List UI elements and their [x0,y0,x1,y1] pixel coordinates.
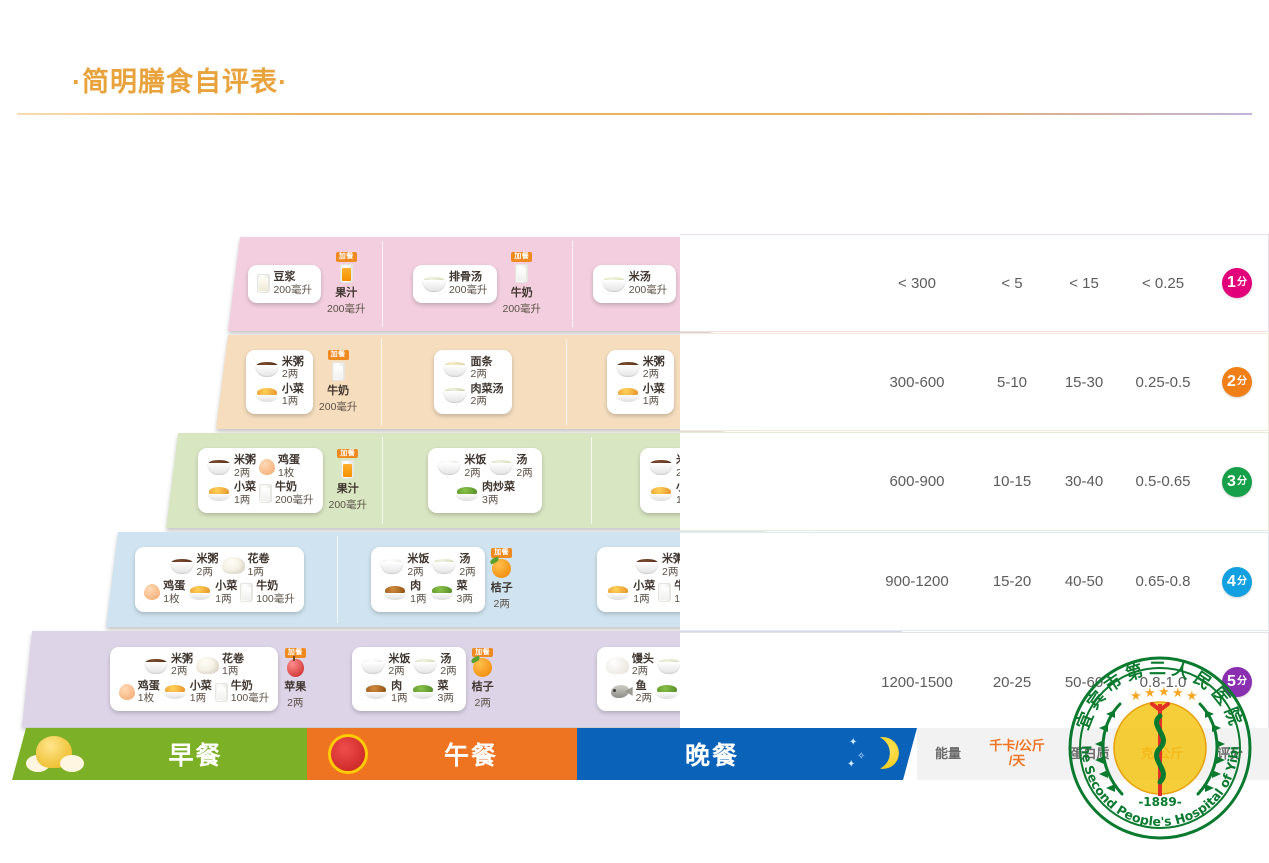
level-2-lunch: 面条2两 肉菜汤2两 [381,335,565,429]
food-name: 花卷 [222,653,244,666]
cell-kcal-per-kg: 20-25 [976,674,1048,691]
juice-glass-icon [340,263,353,283]
cell-score: 3分 [1206,467,1268,497]
food-name: 汤 [440,653,456,666]
food-qty: 2两 [470,368,492,380]
congee-bowl-icon [616,360,640,377]
veg-plate-icon [655,684,679,699]
tab-dinner[interactable]: 晚餐 ✦ ✧ ✦ [577,728,917,780]
level-4-lunch: 米饭2两 汤2两 肉1两 [317,532,567,627]
status-badge[interactable]: 3分 [1222,467,1252,497]
food-item: 米粥2两 [255,356,304,381]
soup-bowl-icon [413,657,437,674]
food-item: 小菜1两 [207,481,256,506]
snack-badge: 加餐 [285,648,306,658]
food-item: 牛奶100毫升 [240,580,295,605]
food-name: 小菜 [643,383,665,396]
table-row: < 300 < 5 < 15 < 0.25 1分 [680,234,1269,332]
food-item: 小菜1两 [255,383,304,408]
food-item: 米饭2两 [361,653,410,678]
milk-glass-icon [215,682,228,702]
rice-bowl-icon [361,657,385,674]
food-qty: 1两 [633,593,655,605]
level-1-breakfast: 豆浆200毫升 加餐 果汁 200毫升 [232,237,382,331]
soy-milk-glass-icon [257,273,270,293]
snack-item[interactable]: 加餐 苹果 2两 [284,648,306,710]
xiaocai-plate-icon [163,684,187,699]
bread-icon [26,736,84,772]
tab-breakfast[interactable]: 早餐 [12,728,307,780]
food-item: 馒头2两 [606,653,654,678]
food-name: 牛奶 [275,481,314,494]
food-name: 果汁 [335,284,357,300]
food-name: 小菜 [234,481,256,494]
meal-divider [382,437,383,524]
food-item: 菜3两 [430,580,473,605]
header-energy: 能量 [917,747,979,762]
egg-icon [144,584,160,600]
food-qty: 2两 [234,467,256,479]
food-name: 面条 [470,356,492,369]
food-name: 米粥 [643,356,665,369]
rice-bowl-icon [380,557,404,574]
food-name: 果汁 [337,480,359,496]
food-item: 汤2两 [489,454,532,479]
cell-energy: 900-1200 [858,573,976,590]
cell-score: 2分 [1206,367,1268,397]
food-name: 牛奶 [327,382,349,398]
meal-divider [381,339,382,425]
tab-lunch[interactable]: 午餐 [307,728,577,780]
orange-fruit-icon [492,559,511,578]
cell-energy: 300-600 [858,374,976,391]
food-qty: 1两 [248,566,270,578]
congee-bowl-icon [635,557,659,574]
food-item: 小菜1两 [163,680,212,705]
food-item: 鸡蛋1枚 [259,454,300,479]
seal-graphic: ★★★ ★★ 宜宾市第二人民医院 The Second People's Hos… [1060,648,1260,848]
food-item: 小菜1两 [606,580,655,605]
food-name: 牛奶 [256,580,295,593]
meat-veg-soup-bowl-icon [443,386,467,403]
food-qty: 1两 [391,692,407,704]
cell-protein: < 15 [1048,275,1120,292]
food-item: 牛奶200毫升 [259,481,314,506]
meal-divider [337,536,338,623]
svg-text:★: ★ [1130,689,1142,704]
food-name: 米粥 [171,653,193,666]
congee-bowl-icon [255,360,279,377]
food-qty: 1两 [282,395,304,407]
cell-protein-per-kg: < 0.25 [1120,275,1206,292]
food-qty: 1两 [222,665,244,677]
food-card[interactable]: 米饭2两 汤2两 肉1两 [352,647,465,711]
hospital-seal: ★★★ ★★ 宜宾市第二人民医院 The Second People's Hos… [1060,648,1260,848]
apple-icon [287,659,304,677]
congee-bowl-icon [170,557,194,574]
food-qty: 100毫升 [231,692,270,704]
level-5-breakfast: 米粥2两 花卷1两 鸡蛋1枚 [108,631,308,727]
food-name: 小菜 [633,580,655,593]
juice-glass-icon [341,459,354,479]
food-name: 米饭 [407,553,429,566]
food-qty: 2两 [475,695,491,710]
snack-item[interactable]: 加餐 桔子 2两 [491,548,513,611]
food-card[interactable]: 米饭2两 汤2两 肉1两 [371,547,484,611]
food-name: 米粥 [282,356,304,369]
food-qty: 2两 [470,395,503,407]
food-name: 小菜 [215,580,237,593]
food-qty: 1枚 [138,692,160,704]
meat-plate-icon [364,684,388,699]
sun-icon [331,737,365,771]
food-item: 汤2两 [432,553,475,578]
food-item: 米粥2两 [207,454,256,479]
xiaocai-plate-icon [649,486,673,501]
cell-protein: 30-40 [1048,473,1120,490]
food-name: 桔子 [472,678,494,694]
food-name: 汤 [459,553,475,566]
xiaocai-plate-icon [606,585,630,600]
food-name: 米粥 [234,454,256,467]
food-qty: 2两 [287,695,303,710]
food-qty: 1枚 [163,593,185,605]
table-row: 900-1200 15-20 40-50 0.65-0.8 4分 [680,532,1269,631]
cell-energy: < 300 [858,275,976,292]
food-qty: 2两 [643,368,665,380]
food-item: 鱼2两 [608,680,652,705]
food-qty: 200毫升 [329,497,368,512]
food-qty: 200毫升 [275,494,314,506]
huajuan-icon [222,557,245,574]
poster-root: ·简明膳食自评表· 豆浆200毫升 [0,0,1269,863]
food-qty: 200毫升 [503,301,542,316]
food-name: 汤 [516,454,532,467]
soup-bowl-icon [657,657,681,674]
orange-fruit-icon [473,658,492,677]
egg-icon [259,459,275,475]
snack-item[interactable]: 加餐 桔子 2两 [472,648,494,711]
meal-divider [382,241,383,327]
meal-divider [566,339,567,425]
food-item: 米饭2两 [437,454,486,479]
meal-divider [591,437,592,524]
food-name: 肉 [391,680,407,693]
food-qty: 2两 [197,566,219,578]
food-item: 鸡蛋1枚 [144,580,185,605]
food-name: 米汤 [629,271,668,284]
food-item: 肉1两 [364,680,407,705]
milk-glass-icon [259,483,272,503]
huajuan-icon [196,657,219,674]
food-name: 肉 [410,580,426,593]
level-5-lunch: 米饭2两 汤2两 肉1两 [308,631,538,727]
food-name: 肉菜汤 [470,383,503,396]
food-card[interactable]: 排骨汤200毫升 [413,265,497,303]
food-name: 排骨汤 [449,271,488,284]
food-item: 小菜1两 [188,580,237,605]
header-energy-unit: 千卡/公斤/天 [979,739,1055,769]
congee-bowl-icon [649,458,673,475]
cell-kcal-per-kg: 5-10 [976,374,1048,391]
snack-badge: 加餐 [491,548,512,558]
food-name: 米饭 [464,454,486,467]
xiaocai-plate-icon [616,387,640,402]
score-unit: 分 [1237,577,1247,587]
food-card[interactable]: 米粥2两 花卷1两 鸡蛋1枚 [110,647,279,711]
food-qty: 2两 [440,665,456,677]
food-name: 苹果 [284,678,306,694]
food-qty: 200毫升 [319,399,358,414]
cell-kcal-per-kg: < 5 [976,275,1048,292]
food-qty: 1两 [410,593,426,605]
soup-bowl-icon [489,458,513,475]
snack-badge: 加餐 [336,252,357,262]
food-item: 菜3两 [411,680,454,705]
food-qty: 2两 [494,596,510,611]
food-item: 汤2两 [413,653,456,678]
food-name: 鸡蛋 [278,454,300,467]
food-qty: 3两 [457,593,473,605]
food-qty: 200毫升 [449,284,488,296]
svg-text:★: ★ [1186,689,1198,704]
snack-item[interactable]: 加餐 果汁 200毫升 [327,252,366,316]
level-3-breakfast: 米粥2两 鸡蛋1枚 小菜1两 [180,433,385,528]
level-3-lunch: 米饭2两 汤2两 肉炒菜3两 [385,433,585,528]
food-item: 肉菜汤2两 [443,383,503,408]
cell-score: 4分 [1206,567,1268,597]
food-name: 肉炒菜 [482,481,515,494]
food-qty: 200毫升 [273,284,312,296]
food-card[interactable]: 豆浆200毫升 [248,265,321,303]
level-1-lunch: 排骨汤200毫升 加餐 牛奶 200毫升 [382,237,572,331]
soup-bowl-icon [432,557,456,574]
milk-glass-icon [515,263,528,283]
cell-protein-per-kg: 0.25-0.5 [1120,374,1206,391]
tab-dinner-label: 晚餐 [577,736,847,772]
food-card[interactable]: 米粥2两 小菜1两 [607,350,674,414]
food-name: 牛奶 [231,680,270,693]
food-item: 米粥2两 [635,553,684,578]
score-number: 2 [1227,374,1236,390]
food-name: 鸡蛋 [138,680,160,693]
food-name: 牛奶 [511,284,533,300]
meat-plate-icon [383,585,407,600]
food-qty: 2两 [282,368,304,380]
noodle-bowl-icon [443,360,467,377]
snack-badge: 加餐 [328,350,349,360]
snack-item[interactable]: 加餐 果汁 200毫升 [329,449,368,513]
food-name: 桔子 [491,579,513,595]
moon-icon: ✦ ✧ ✦ [847,735,899,773]
status-badge[interactable]: 2分 [1222,367,1252,397]
svg-text:★: ★ [1172,686,1184,701]
food-name: 花卷 [248,553,270,566]
congee-bowl-icon [207,458,231,475]
food-name: 米粥 [197,553,219,566]
seal-year: -1889- [1138,795,1181,809]
food-item: 牛奶100毫升 [215,680,270,705]
food-qty: 100毫升 [256,593,295,605]
table-row: 300-600 5-10 15-30 0.25-0.5 2分 [680,333,1269,431]
food-card[interactable]: 米粥2两 鸡蛋1枚 小菜1两 [198,448,323,512]
food-qty: 3两 [482,494,515,506]
food-qty: 200毫升 [327,301,366,316]
food-card[interactable]: 米饭2两 汤2两 肉炒菜3两 [428,448,541,512]
food-qty: 1两 [215,593,237,605]
food-card[interactable]: 米汤200毫升 [593,265,677,303]
food-item: 肉炒菜3两 [455,481,515,506]
food-qty: 2两 [407,566,429,578]
milk-glass-icon [658,582,671,602]
food-qty: 2两 [464,467,486,479]
milk-glass-icon [332,361,345,381]
food-qty: 2两 [459,566,475,578]
egg-icon [119,684,135,700]
food-qty: 2两 [636,692,652,704]
rice-bowl-icon [437,458,461,475]
level-1-dinner: 米汤200毫升 [572,237,697,331]
score-unit: 分 [1237,477,1247,487]
status-badge[interactable]: 1分 [1222,268,1252,298]
food-item: 小菜1两 [616,383,665,408]
score-number: 1 [1227,275,1236,291]
soup-bowl-icon [422,275,446,292]
food-item: 米饭2两 [380,553,429,578]
cell-protein: 40-50 [1048,573,1120,590]
rice-soup-bowl-icon [602,275,626,292]
cell-score: 1分 [1206,268,1268,298]
snack-badge: 加餐 [511,252,532,262]
congee-bowl-icon [144,657,168,674]
food-name: 小菜 [282,383,304,396]
food-item: 花卷1两 [196,653,244,678]
food-item: 米粥2两 [144,653,193,678]
snack-item[interactable]: 加餐 牛奶 200毫升 [319,350,358,414]
food-qty: 3两 [438,692,454,704]
food-item: 米汤200毫升 [602,271,668,296]
score-unit: 分 [1237,377,1247,387]
cell-energy: 1200-1500 [858,674,976,691]
xiaocai-plate-icon [188,585,212,600]
food-qty: 1两 [234,494,256,506]
food-name: 菜 [438,680,454,693]
meal-divider [572,241,573,327]
food-card[interactable]: 面条2两 肉菜汤2两 [434,350,512,414]
svg-text:★: ★ [1144,686,1156,701]
food-qty: 1两 [190,692,212,704]
food-qty: 1枚 [278,467,300,479]
table-row: 600-900 10-15 30-40 0.5-0.65 3分 [680,432,1269,531]
cell-kcal-per-kg: 15-20 [976,573,1048,590]
food-item: 面条2两 [443,356,492,381]
veg-plate-icon [455,486,479,501]
food-qty: 1两 [643,395,665,407]
food-item: 排骨汤200毫升 [422,271,488,296]
food-name: 小菜 [190,680,212,693]
cell-energy: 600-900 [858,473,976,490]
food-qty: 2两 [516,467,532,479]
cell-protein-per-kg: 0.65-0.8 [1120,573,1206,590]
food-name: 米饭 [388,653,410,666]
score-number: 4 [1227,574,1236,590]
xiaocai-plate-icon [207,486,231,501]
xiaocai-plate-icon [255,387,279,402]
milk-glass-icon [240,582,253,602]
food-card[interactable]: 米粥2两 小菜1两 [246,350,313,414]
food-qty: 2两 [171,665,193,677]
cell-protein-per-kg: 0.5-0.65 [1120,473,1206,490]
score-number: 3 [1227,474,1236,490]
veg-plate-icon [411,684,435,699]
food-name: 鱼 [636,680,652,693]
food-item: 米粥2两 [170,553,219,578]
snack-badge: 加餐 [337,449,358,459]
score-unit: 分 [1237,278,1247,288]
mantou-icon [606,657,629,674]
food-item: 花卷1两 [222,553,270,578]
fish-icon [608,684,633,700]
food-card[interactable]: 米粥2两 花卷1两 鸡蛋1枚 [135,547,304,611]
cell-kcal-per-kg: 10-15 [976,473,1048,490]
food-qty: 2两 [388,665,410,677]
cell-protein: 15-30 [1048,374,1120,391]
snack-item[interactable]: 加餐 牛奶 200毫升 [503,252,542,316]
food-item: 豆浆200毫升 [257,271,312,296]
food-name: 馒头 [632,653,654,666]
food-name: 鸡蛋 [163,580,185,593]
svg-text:★: ★ [1158,685,1170,700]
food-item: 鸡蛋1枚 [119,680,160,705]
food-name: 豆浆 [273,271,312,284]
veg-plate-icon [430,585,454,600]
tab-breakfast-label: 早餐 [84,736,307,772]
food-item: 肉1两 [383,580,426,605]
level-4-breakfast: 米粥2两 花卷1两 鸡蛋1枚 [122,532,317,627]
food-name: 菜 [457,580,473,593]
food-item: 米粥2两 [616,356,665,381]
food-qty: 2两 [632,665,654,677]
tab-lunch-label: 午餐 [365,736,577,772]
status-badge[interactable]: 4分 [1222,567,1252,597]
food-qty: 200毫升 [629,284,668,296]
level-2-breakfast: 米粥2两 小菜1两 加餐 [222,335,381,429]
